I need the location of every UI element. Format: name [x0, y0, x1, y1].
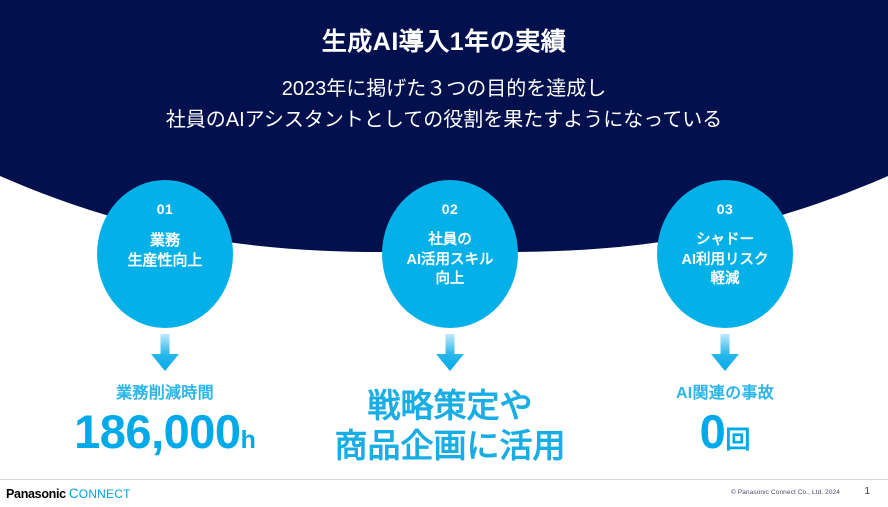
result-number-03: 0 [700, 405, 726, 458]
slide-footer: PanasonicCONNECT © Panasonic Connect Co.… [0, 479, 888, 507]
result-block-01: 業務削減時間 186,000h [35, 384, 295, 457]
objective-circle-01: 01 業務 生産性向上 [97, 180, 233, 328]
objective-number-02: 02 [382, 180, 518, 216]
logo-connect-cap: C [69, 486, 79, 501]
result-unit-01: h [241, 426, 256, 454]
objective-label-03: シャドー AI利用リスク 軽減 [657, 216, 793, 290]
logo-connect-text: CONNECT [69, 487, 131, 501]
result-value-03: 0回 [595, 407, 855, 456]
result-block-02: 戦略策定や 商品企画に活用 [320, 384, 580, 467]
footer-divider [0, 479, 888, 480]
logo-panasonic-text: Panasonic [6, 487, 66, 501]
result-label-01: 業務削減時間 [35, 384, 295, 403]
page-number: 1 [864, 486, 870, 497]
objective-number-03: 03 [657, 180, 793, 216]
objective-label-01: 業務 生産性向上 [97, 216, 233, 272]
objective-circle-02: 02 社員の AI活用スキル 向上 [382, 180, 518, 328]
pillars-group: 01 業務 生産性向上 業務削減時間 186,000 [0, 0, 888, 507]
pillar-01: 01 業務 生産性向上 業務削減時間 186,000 [35, 0, 295, 507]
logo-connect-rest: ONNECT [79, 487, 131, 501]
down-arrow-icon [150, 334, 180, 372]
slide-canvas: 生成AI導入1年の実績 2023年に掲げた３つの目的を達成し 社員のAIアシスタ… [0, 0, 888, 507]
down-arrow-icon [435, 334, 465, 372]
objective-circle-03: 03 シャドー AI利用リスク 軽減 [657, 180, 793, 328]
objective-number-01: 01 [97, 180, 233, 216]
copyright-notice: © Panasonic Connect Co., Ltd. 2024 [731, 489, 840, 496]
result-block-03: AI関連の事故 0回 [595, 384, 855, 457]
pillar-02: 02 社員の AI活用スキル 向上 戦略策定や 商品企画に活用 [320, 0, 580, 507]
result-number-01: 186,000 [74, 405, 240, 458]
result-unit-03: 回 [725, 426, 750, 454]
objective-label-02: 社員の AI活用スキル 向上 [382, 216, 518, 290]
panasonic-connect-logo: PanasonicCONNECT [6, 486, 131, 502]
down-arrow-icon [710, 334, 740, 372]
result-value-01: 186,000h [35, 407, 295, 456]
pillar-03: 03 シャドー AI利用リスク 軽減 AI関連の事故 [595, 0, 855, 507]
result-label-03: AI関連の事故 [595, 384, 855, 403]
result-text-02: 戦略策定や 商品企画に活用 [320, 386, 580, 467]
